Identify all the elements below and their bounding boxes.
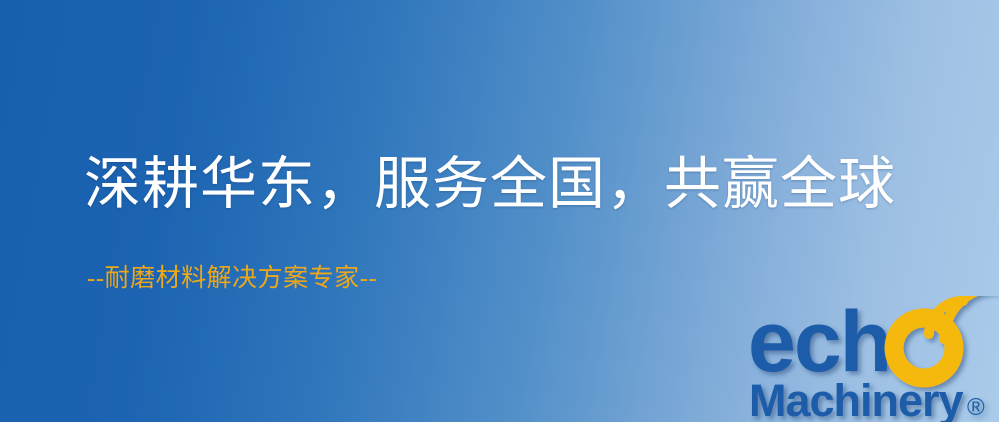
page-title: 深耕华东，服务全国，共赢全球 [84, 152, 896, 218]
echo-machinery-logo-icon: ech Machinery ® [748, 296, 999, 422]
hero-banner: 深耕华东，服务全国，共赢全球 --耐磨材料解决方案专家-- ech [0, 0, 999, 422]
logo-mark: ech Machinery ® echo Machinery ® [748, 296, 999, 422]
brand-logo[interactable]: ech Machinery ® echo Machinery ® [748, 296, 999, 422]
page-subtitle: --耐磨材料解决方案专家-- [87, 264, 377, 294]
svg-text:Machinery: Machinery [749, 375, 964, 422]
svg-text:®: ® [967, 394, 985, 421]
